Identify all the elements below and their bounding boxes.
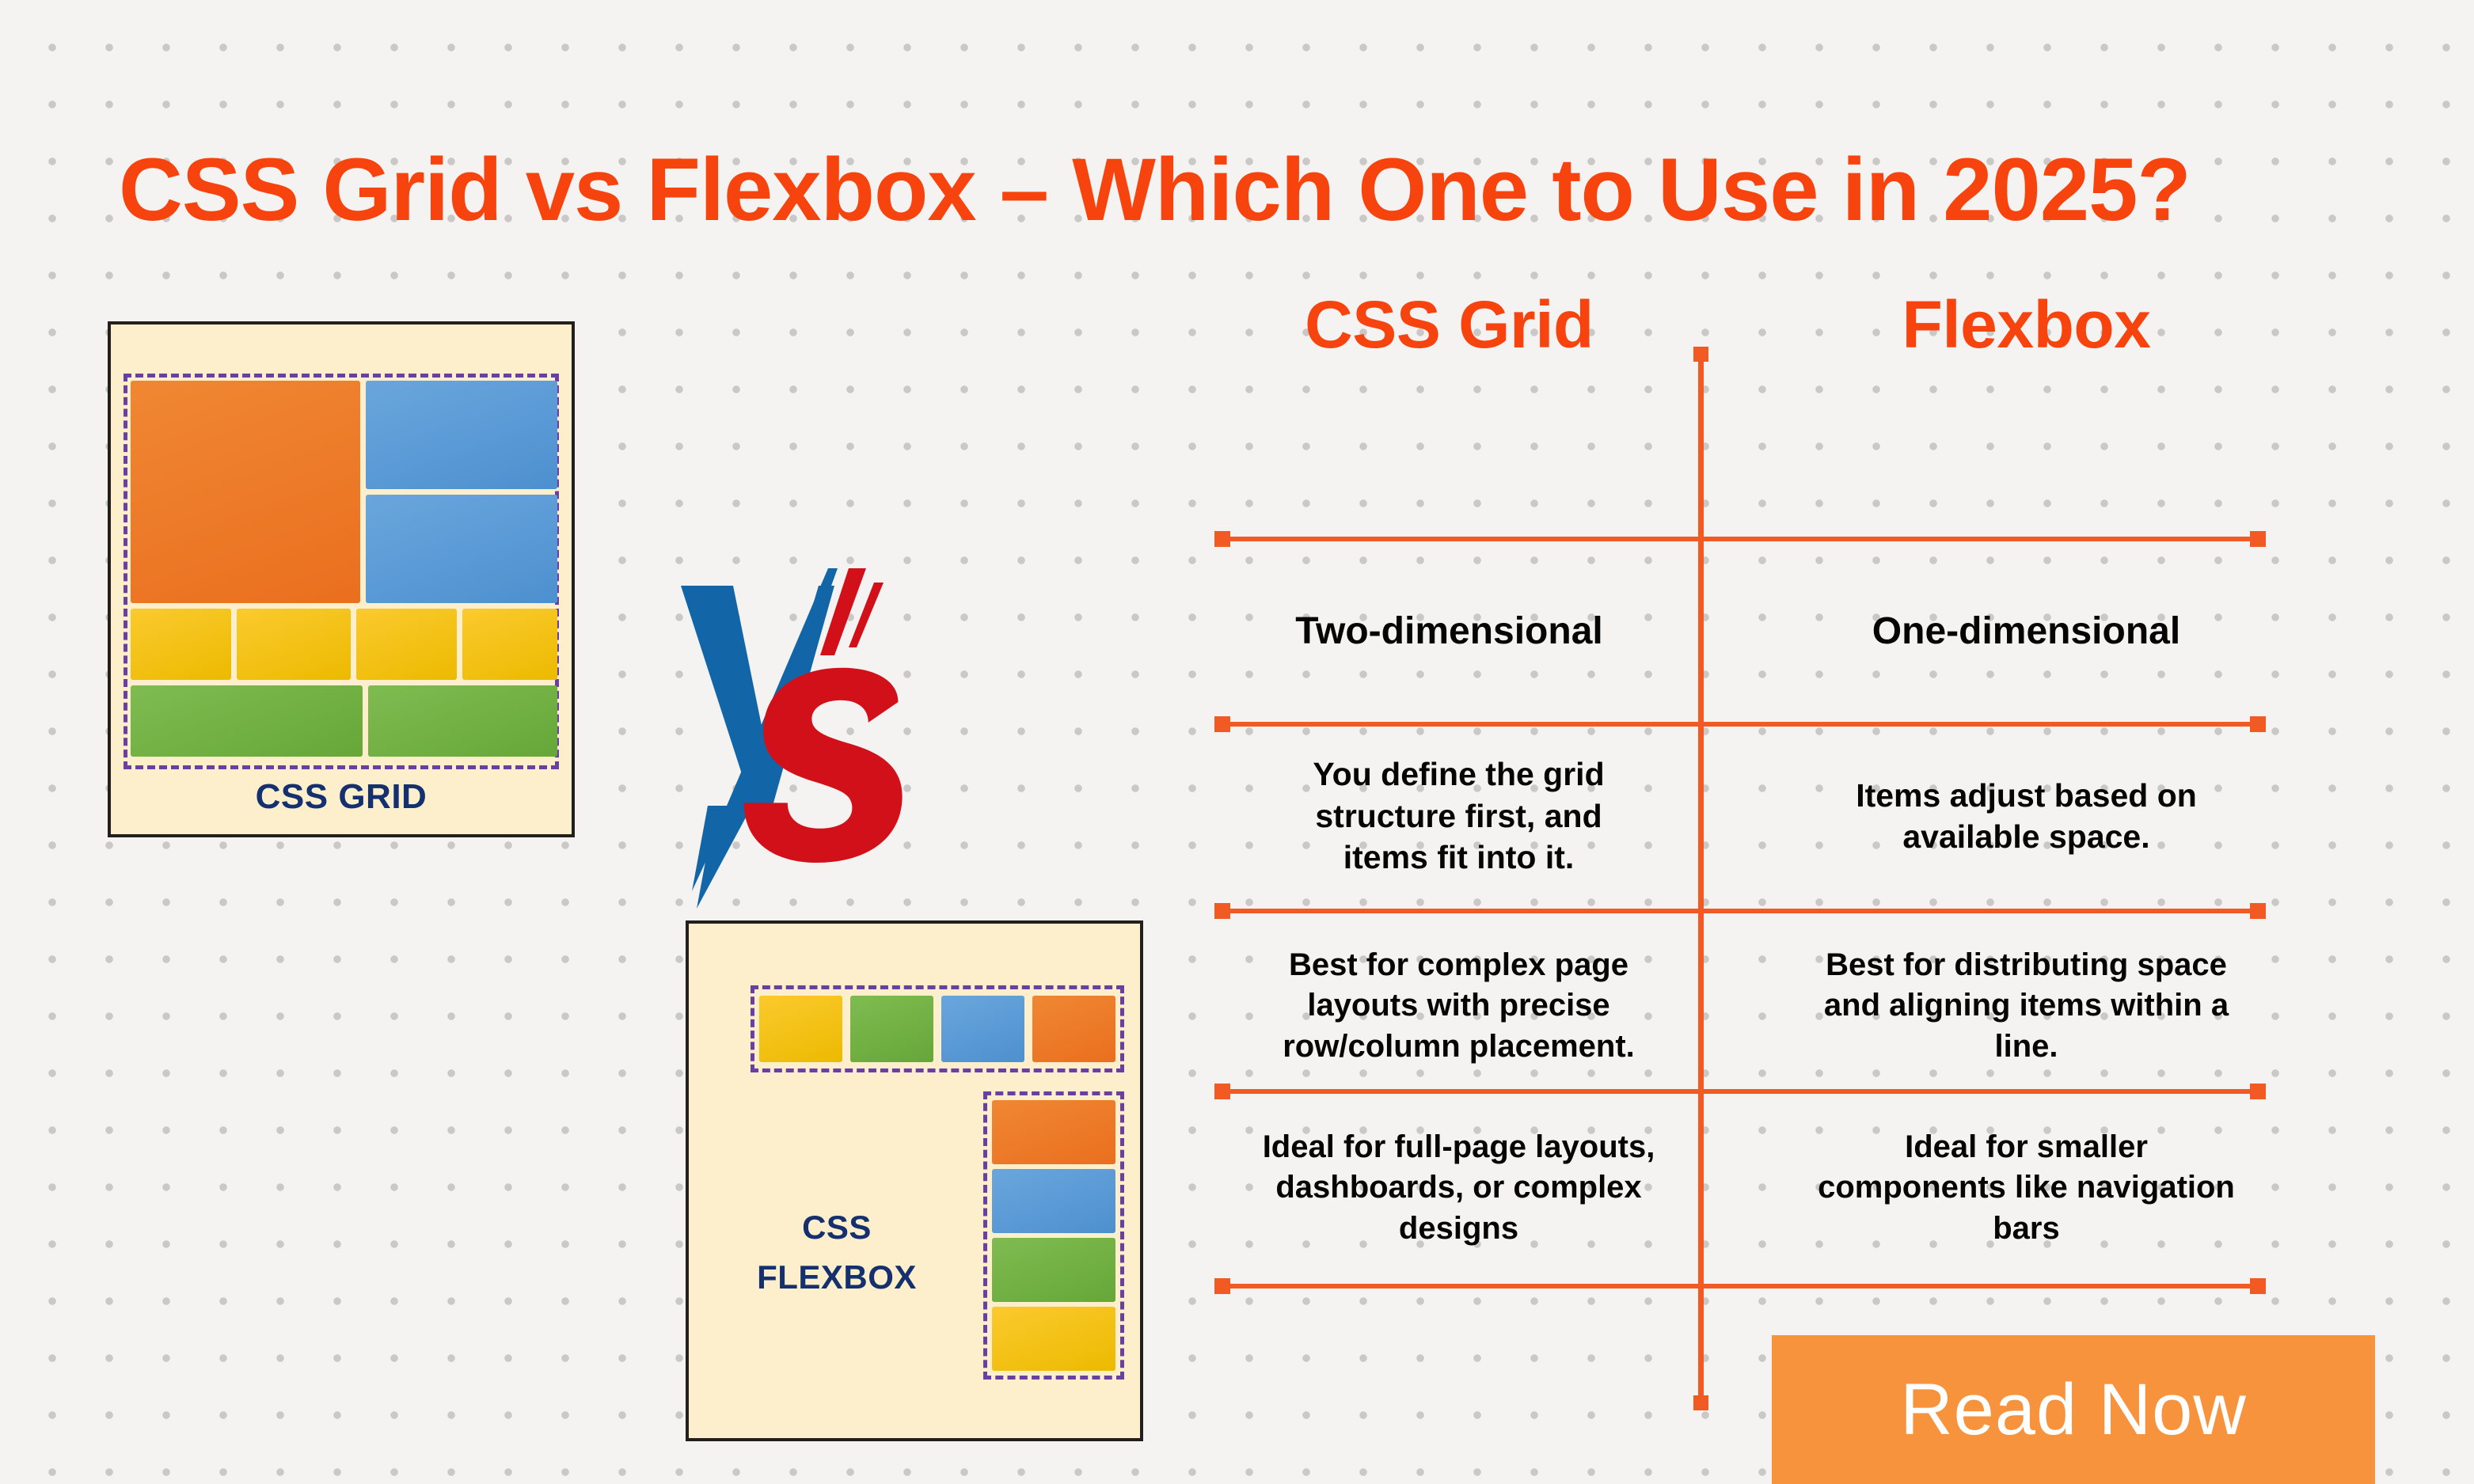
grid-yellow-row [131,609,557,680]
row-separator-5 [1216,1284,2264,1289]
flex-row-container-outline [751,985,1124,1072]
grid-green-row [131,685,557,757]
grid-blue-column [366,381,557,603]
row-1-text-flexbox: One-dimensional [1872,607,2180,655]
comparison-row-4: Ideal for full-page layouts, dashboards,… [1216,1102,2269,1274]
comparison-table: CSS Grid Flexbox Two-dimensional One-dim… [1216,348,2269,1409]
row-3-cell-flexbox: Best for distributing space and aligning… [1784,920,2269,1092]
page-title: CSS Grid vs Flexbox – Which One to Use i… [119,137,2367,243]
grid-container-outline [124,374,559,769]
flex-row-item-green [850,996,933,1062]
row-3-text-grid: Best for complex page layouts with preci… [1252,945,1665,1067]
grid-cell-yellow-4 [462,609,557,680]
grid-cell-blue-2 [366,495,557,603]
grid-cell-green-1 [131,685,363,757]
row-2-cell-flexbox: Items adjust based on available space. [1784,733,2269,899]
row-separator-4 [1216,1089,2264,1094]
row-1-text-grid: Two-dimensional [1295,607,1602,655]
css-flexbox-illustration-card: CSS FLEXBOX [686,920,1143,1441]
row-separator-2 [1216,722,2264,727]
css-flexbox-label-line2: FLEXBOX [722,1252,952,1302]
infographic-canvas: CSS Grid vs Flexbox – Which One to Use i… [0,0,2474,1484]
header-cell-css-grid: CSS Grid [1216,253,1701,396]
flex-column-container-outline [983,1091,1124,1380]
vs-lightning-icon [679,568,917,909]
row-4-cell-flexbox: Ideal for smaller components like naviga… [1784,1102,2269,1274]
row-2-text-flexbox: Items adjust based on available space. [1845,775,2207,858]
flex-col-item-orange [992,1100,1115,1164]
header-label-flexbox: Flexbox [1902,290,2151,359]
comparison-row-1: Two-dimensional One-dimensional [1216,552,2269,711]
row-3-text-flexbox: Best for distributing space and aligning… [1820,945,2233,1067]
grid-cell-yellow-3 [356,609,457,680]
flex-row-item-blue [941,996,1024,1062]
grid-cell-yellow-1 [131,609,231,680]
grid-cells-wrapper [131,381,552,762]
comparison-row-3: Best for complex page layouts with preci… [1216,920,2269,1092]
row-2-text-grid: You define the grid structure first, and… [1278,753,1640,878]
css-flexbox-label: CSS FLEXBOX [722,1202,952,1302]
read-now-button[interactable]: Read Now [1772,1335,2375,1484]
row-3-cell-grid: Best for complex page layouts with preci… [1216,920,1701,1092]
css-grid-illustration-card: CSS GRID [108,321,575,837]
header-cell-flexbox: Flexbox [1784,253,2269,396]
header-label-css-grid: CSS Grid [1305,290,1594,359]
flex-row-item-orange [1032,996,1115,1062]
row-separator-3 [1216,909,2264,913]
flex-row-item-yellow [759,996,842,1062]
row-4-cell-grid: Ideal for full-page layouts, dashboards,… [1216,1102,1701,1274]
css-flexbox-label-line1: CSS [722,1202,952,1252]
row-1-cell-flexbox: One-dimensional [1784,552,2269,711]
grid-cell-blue-1 [366,381,557,489]
grid-cell-green-2 [368,685,557,757]
comparison-header-row: CSS Grid Flexbox [1216,253,2269,396]
versus-badge [679,568,917,909]
row-4-text-grid: Ideal for full-page layouts, dashboards,… [1248,1127,1670,1249]
grid-cell-orange [131,381,360,603]
grid-cell-yellow-2 [237,609,351,680]
flex-col-item-blue [992,1169,1115,1233]
flex-col-item-green [992,1238,1115,1302]
comparison-row-2: You define the grid structure first, and… [1216,733,2269,899]
read-now-label: Read Now [1900,1368,2247,1452]
row-1-cell-grid: Two-dimensional [1216,552,1701,711]
row-2-cell-grid: You define the grid structure first, and… [1216,733,1701,899]
css-grid-label: CSS GRID [111,777,572,817]
row-separator-1 [1216,537,2264,541]
row-4-text-flexbox: Ideal for smaller components like naviga… [1815,1127,2237,1249]
flex-col-item-yellow [992,1307,1115,1371]
